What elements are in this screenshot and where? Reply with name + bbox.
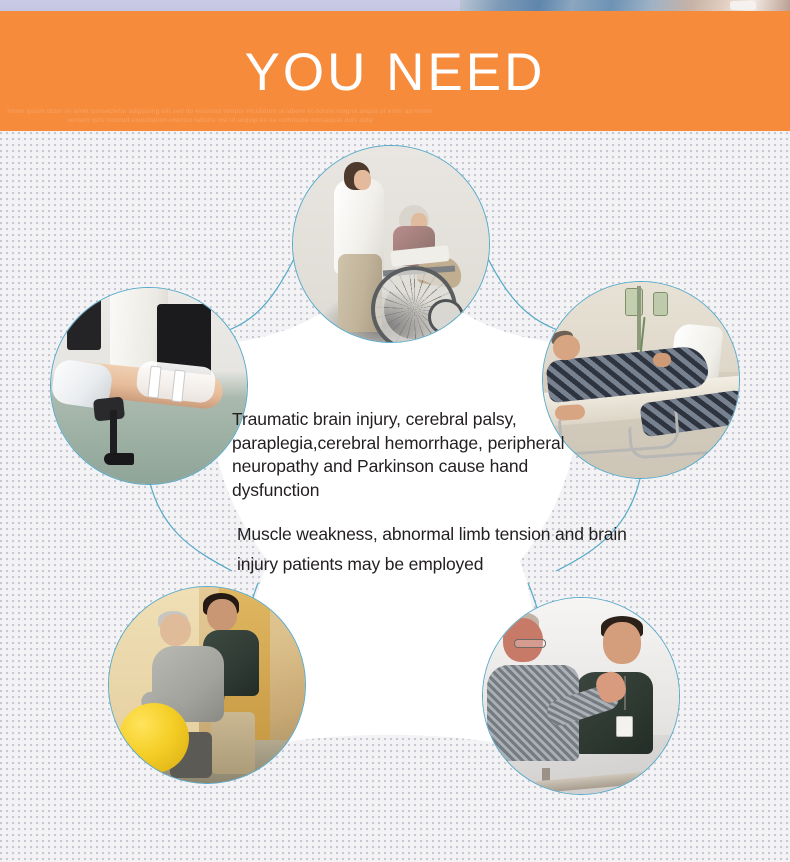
condition-description-paragraph: Traumatic brain injury, cerebral palsy, … xyxy=(232,408,592,502)
photo-ball-therapy xyxy=(109,587,305,783)
page-title: YOU NEED xyxy=(0,43,790,103)
photo-circle-hand-rehab[interactable] xyxy=(482,597,680,795)
header-banner: YOU NEED lorem ipsum dolor sit amet cons… xyxy=(0,11,790,131)
banner-subtext-line: lorem ipsum dolor sit amet consectetur a… xyxy=(5,107,435,125)
banner-subtext: lorem ipsum dolor sit amet consectetur a… xyxy=(0,107,440,125)
patient-eligibility-paragraph: Muscle weakness, abnormal limb tension a… xyxy=(232,519,629,579)
photo-circle-wheelchair-care[interactable] xyxy=(292,145,490,343)
promo-page: YOU NEED lorem ipsum dolor sit amet cons… xyxy=(0,0,790,862)
top-strip-photo-fragment xyxy=(460,0,790,11)
photo-hand-orthosis xyxy=(51,288,247,484)
photo-circle-hand-orthosis[interactable] xyxy=(50,287,248,485)
top-image-strip xyxy=(0,0,790,11)
center-text-block: Traumatic brain injury, cerebral palsy, … xyxy=(232,408,626,579)
photo-hand-rehab xyxy=(483,598,679,794)
petal-diagram: Traumatic brain injury, cerebral palsy, … xyxy=(0,131,790,862)
photo-circle-ball-therapy[interactable] xyxy=(108,586,306,784)
photo-wheelchair-care xyxy=(293,146,489,342)
